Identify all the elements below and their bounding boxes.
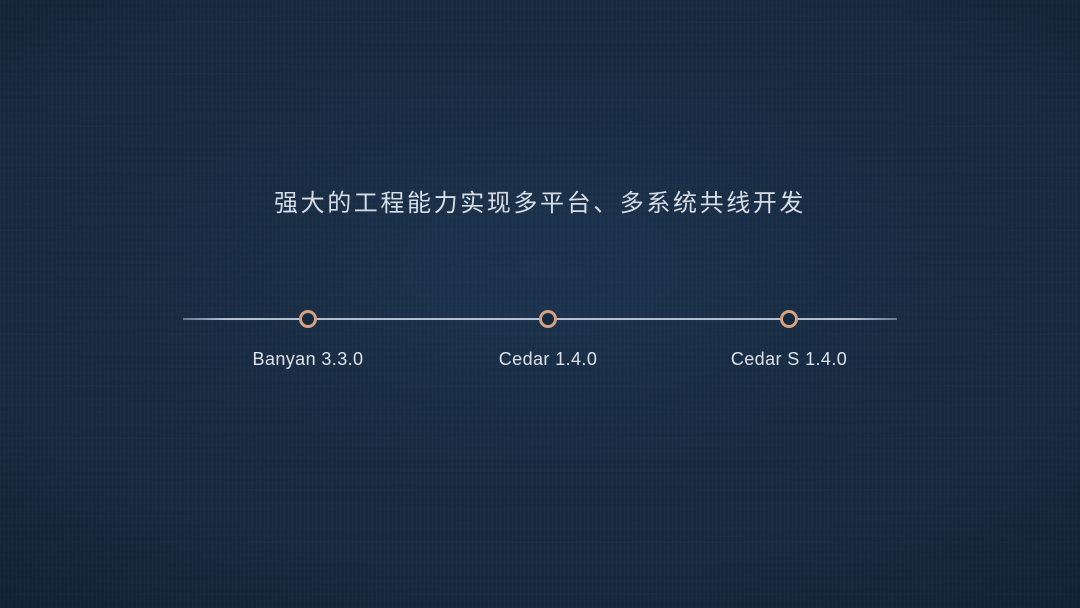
- presentation-slide: 强大的工程能力实现多平台、多系统共线开发 Banyan 3.3.0 Cedar …: [0, 0, 1080, 608]
- ring-marker-icon: [780, 310, 798, 328]
- ring-marker-icon: [539, 310, 557, 328]
- version-timeline: Banyan 3.3.0 Cedar 1.4.0 Cedar S 1.4.0: [183, 300, 897, 340]
- timeline-node-label: Cedar 1.4.0: [418, 349, 678, 370]
- timeline-node-label: Cedar S 1.4.0: [659, 349, 919, 370]
- page-title: 强大的工程能力实现多平台、多系统共线开发: [0, 183, 1080, 218]
- ring-marker-icon: [299, 310, 317, 328]
- timeline-node-label: Banyan 3.3.0: [178, 349, 438, 370]
